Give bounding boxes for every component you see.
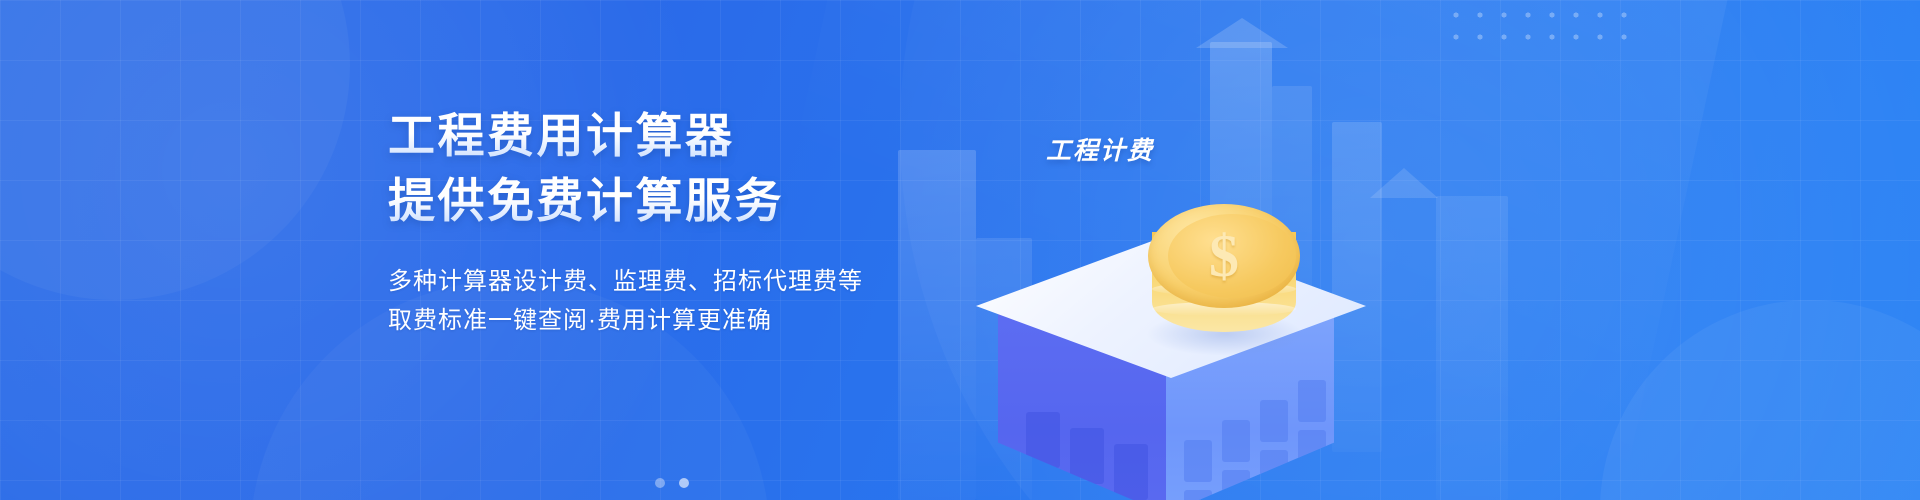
carousel-indicators[interactable]	[655, 478, 689, 488]
background-tower-6	[1436, 196, 1508, 500]
dollar-sign-icon: $	[1148, 204, 1300, 308]
carousel-dot-2[interactable]	[679, 478, 689, 488]
building-window	[1026, 412, 1060, 468]
building-window	[1260, 450, 1288, 492]
isometric-building: $	[960, 212, 1390, 500]
building-window	[1298, 430, 1326, 472]
coin-top-face: $	[1148, 204, 1300, 308]
building-window	[1222, 470, 1250, 500]
building-window	[1184, 490, 1212, 500]
building-window	[1298, 380, 1326, 422]
carousel-dot-1[interactable]	[655, 478, 665, 488]
coin-stack-icon: $	[1140, 204, 1308, 354]
banner-illustration: 工程计费	[880, 0, 1580, 500]
building-window	[1222, 420, 1250, 462]
building-window	[1184, 440, 1212, 482]
building-window	[1114, 444, 1148, 500]
building-window	[1070, 428, 1104, 484]
promo-banner: 工程费用计算器 提供免费计算服务 多种计算器设计费、监理费、招标代理费等 取费标…	[0, 0, 1920, 500]
building-window	[1260, 400, 1288, 442]
illustration-label: 工程计费	[1046, 131, 1154, 167]
